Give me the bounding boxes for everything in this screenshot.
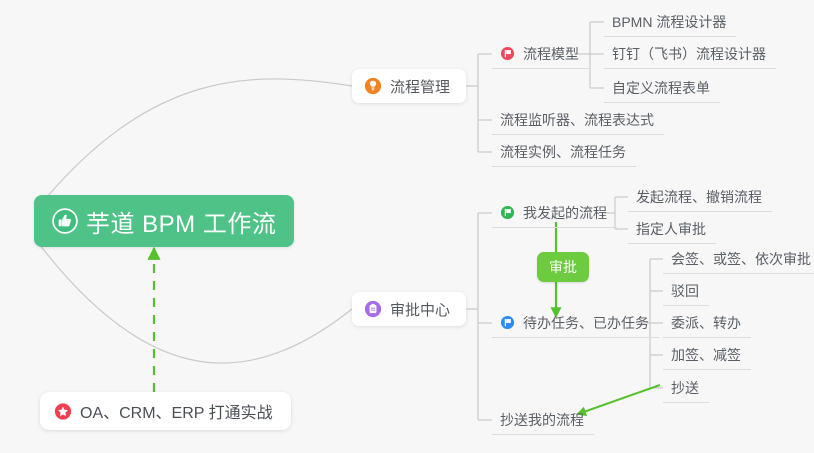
node-process-model[interactable]: 流程模型 bbox=[492, 39, 589, 69]
flag-icon bbox=[500, 46, 515, 61]
thumbs-up-icon bbox=[52, 208, 78, 234]
clipboard-icon bbox=[364, 300, 382, 318]
node-label: 流程实例、流程任务 bbox=[500, 142, 626, 162]
node-label: 抄送 bbox=[671, 378, 699, 398]
flag-icon bbox=[500, 315, 515, 330]
node-process-instance-task[interactable]: 流程实例、流程任务 bbox=[492, 137, 636, 167]
bottom-node-label: OA、CRM、ERP 打通实战 bbox=[80, 399, 273, 423]
approval-tag-badge[interactable]: 审批 bbox=[537, 252, 589, 282]
node-assignee-approval[interactable]: 指定人审批 bbox=[628, 214, 716, 244]
mindmap-canvas: 芋道 BPM 工作流 流程管理 流程模型 BPMN 流程设计器 钉钉（飞书）流程 bbox=[0, 0, 814, 453]
node-label: 自定义流程表单 bbox=[612, 78, 710, 98]
node-bpmn-designer[interactable]: BPMN 流程设计器 bbox=[604, 7, 736, 37]
branch-approval-center[interactable]: 审批中心 bbox=[352, 292, 466, 326]
node-label: BPMN 流程设计器 bbox=[612, 12, 726, 32]
node-dingtalk-feishu-designer[interactable]: 钉钉（飞书）流程设计器 bbox=[604, 39, 776, 69]
node-cc-to-me-process[interactable]: 抄送我的流程 bbox=[492, 405, 594, 435]
node-label: 流程模型 bbox=[523, 44, 579, 64]
node-label: 发起流程、撤销流程 bbox=[636, 187, 762, 207]
approval-tag-label: 审批 bbox=[549, 257, 577, 277]
node-my-initiated-process[interactable]: 我发起的流程 bbox=[492, 198, 617, 228]
root-label: 芋道 BPM 工作流 bbox=[86, 204, 276, 239]
node-start-cancel-process[interactable]: 发起流程、撤销流程 bbox=[628, 182, 772, 212]
bottom-node-oa-crm-erp[interactable]: OA、CRM、ERP 打通实战 bbox=[40, 392, 291, 430]
node-label: 待办任务、已办任务 bbox=[523, 313, 649, 333]
node-label: 加签、减签 bbox=[671, 345, 741, 365]
node-label: 委派、转办 bbox=[671, 313, 741, 333]
node-delegate-transfer[interactable]: 委派、转办 bbox=[663, 308, 751, 338]
lightbulb-icon bbox=[364, 77, 382, 95]
node-reject[interactable]: 驳回 bbox=[663, 276, 709, 306]
root-node[interactable]: 芋道 BPM 工作流 bbox=[34, 195, 294, 247]
star-icon bbox=[54, 402, 72, 420]
branch-label: 流程管理 bbox=[390, 76, 450, 97]
node-todo-done-tasks[interactable]: 待办任务、已办任务 bbox=[492, 308, 659, 338]
node-label: 驳回 bbox=[671, 281, 699, 301]
node-label: 我发起的流程 bbox=[523, 203, 607, 223]
link-root-to-process-management bbox=[36, 79, 352, 210]
node-label: 会签、或签、依次审批 bbox=[671, 249, 811, 269]
node-label: 钉钉（飞书）流程设计器 bbox=[612, 44, 766, 64]
node-process-listener[interactable]: 流程监听器、流程表达式 bbox=[492, 105, 664, 135]
node-countersign-or-sequential[interactable]: 会签、或签、依次审批 bbox=[663, 244, 814, 274]
branch-process-management[interactable]: 流程管理 bbox=[352, 69, 466, 103]
link-root-to-approval-center bbox=[36, 240, 352, 363]
node-cc[interactable]: 抄送 bbox=[663, 373, 709, 403]
flag-icon bbox=[500, 205, 515, 220]
branch-label: 审批中心 bbox=[390, 299, 450, 320]
node-add-remove-sign[interactable]: 加签、减签 bbox=[663, 340, 751, 370]
node-label: 流程监听器、流程表达式 bbox=[500, 110, 654, 130]
node-custom-process-form[interactable]: 自定义流程表单 bbox=[604, 73, 720, 103]
node-label: 指定人审批 bbox=[636, 219, 706, 239]
node-label: 抄送我的流程 bbox=[500, 410, 584, 430]
